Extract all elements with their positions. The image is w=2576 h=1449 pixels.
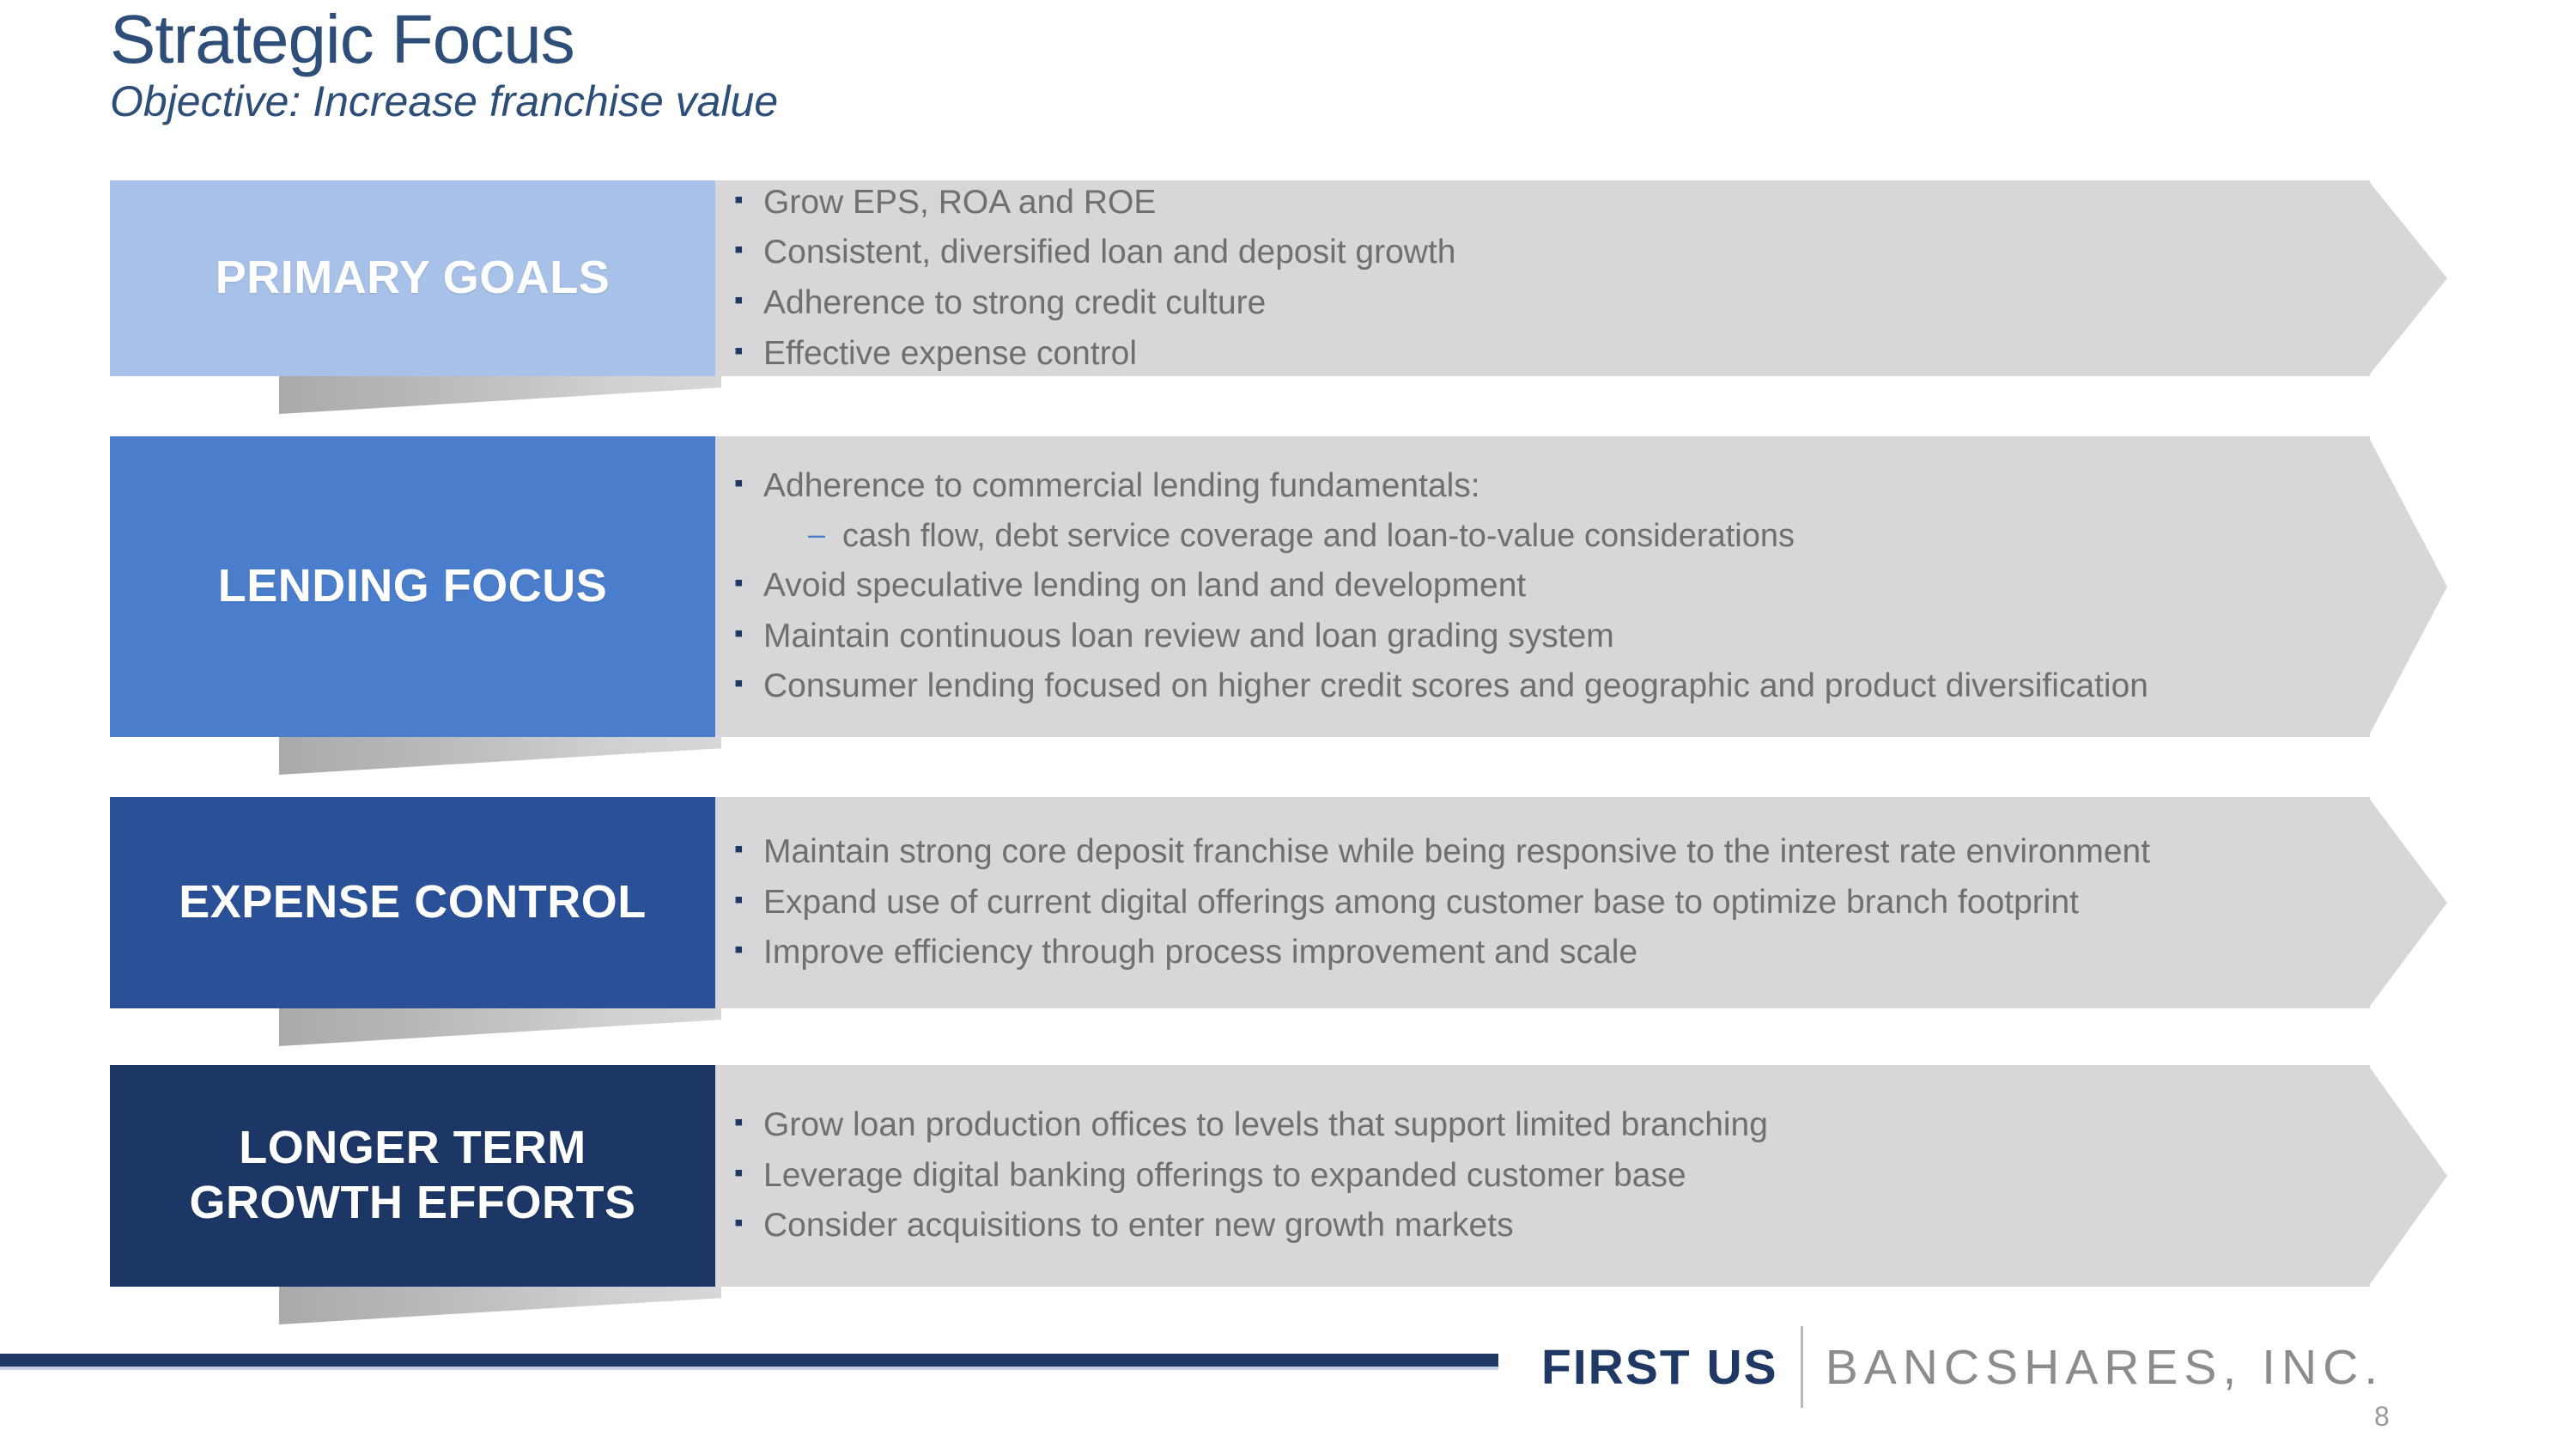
strategy-row: LONGER TERMGROWTH EFFORTS▪Grow loan prod…	[0, 1065, 2576, 1287]
section-label-line: EXPENSE CONTROL	[179, 875, 647, 930]
square-bullet-icon: ▪	[734, 1204, 763, 1242]
dash-bullet-icon: –	[808, 515, 842, 553]
bullet-item: ▪Grow loan production offices to levels …	[734, 1104, 2404, 1148]
bullet-item: ▪Maintain continuous loan review and loa…	[734, 615, 2404, 659]
bullet-item: ▪Consider acquisitions to enter new grow…	[734, 1204, 2404, 1248]
logo-secondary-text: BANCSHARES, INC.	[1826, 1339, 2384, 1396]
logo-divider	[1801, 1326, 1803, 1408]
footer-rule-highlight	[0, 1367, 1498, 1370]
strategy-row: LENDING FOCUS▪Adherence to commercial le…	[0, 436, 2576, 737]
section-label-text: LONGER TERMGROWTH EFFORTS	[190, 1121, 636, 1230]
bullet-item: ▪Leverage digital banking offerings to e…	[734, 1154, 2404, 1198]
sub-bullet-item: –cash flow, debt service coverage and lo…	[808, 515, 2404, 557]
square-bullet-icon: ▪	[734, 282, 763, 320]
label-shadow	[279, 1008, 721, 1046]
slide-header: Strategic Focus Objective: Increase fran…	[110, 5, 778, 127]
bullet-text: Consistent, diversified loan and deposit…	[763, 231, 1455, 275]
bullet-item: ▪Avoid speculative lending on land and d…	[734, 564, 2404, 608]
bullet-item: ▪Expand use of current digital offerings…	[734, 881, 2404, 925]
square-bullet-icon: ▪	[734, 465, 763, 502]
bullet-item: ▪Improve efficiency through process impr…	[734, 931, 2404, 975]
section-label-text: PRIMARY GOALS	[216, 251, 611, 306]
square-bullet-icon: ▪	[734, 931, 763, 969]
footer-rule	[0, 1354, 1498, 1367]
bullet-item: ▪Consistent, diversified loan and deposi…	[734, 231, 2404, 275]
square-bullet-icon: ▪	[734, 665, 763, 703]
square-bullet-icon: ▪	[734, 1154, 763, 1192]
square-bullet-icon: ▪	[734, 615, 763, 653]
bullet-list: ▪Adherence to commercial lending fundame…	[734, 436, 2404, 737]
bullet-list: ▪Grow loan production offices to levels …	[734, 1065, 2404, 1287]
bullet-text: Avoid speculative lending on land and de…	[763, 564, 1526, 608]
label-shadow	[279, 376, 721, 414]
section-label-block[interactable]: PRIMARY GOALS	[110, 180, 715, 376]
section-label-block[interactable]: LONGER TERMGROWTH EFFORTS	[110, 1065, 715, 1287]
bullet-list: ▪Grow EPS, ROA and ROE▪Consistent, diver…	[734, 180, 2404, 376]
section-label-line: GROWTH EFFORTS	[190, 1176, 636, 1231]
bullet-text: Maintain strong core deposit franchise w…	[763, 831, 2150, 874]
section-label-text: LENDING FOCUS	[218, 559, 608, 614]
bullet-text: Adherence to strong credit culture	[763, 282, 1266, 326]
section-label-block[interactable]: LENDING FOCUS	[110, 436, 715, 737]
bullet-text: Grow loan production offices to levels t…	[763, 1104, 1768, 1148]
company-logo: FIRST US BANCSHARES, INC.	[1541, 1326, 2384, 1408]
bullet-item: ▪Effective expense control	[734, 332, 2404, 376]
bullet-text: Improve efficiency through process impro…	[763, 931, 1637, 975]
section-label-line: LENDING FOCUS	[218, 559, 608, 614]
bullet-text: Adherence to commercial lending fundamen…	[763, 465, 1480, 508]
square-bullet-icon: ▪	[734, 1104, 763, 1142]
section-label-text: EXPENSE CONTROL	[179, 875, 647, 930]
bullet-text: Consumer lending focused on higher credi…	[763, 665, 2148, 709]
bullet-item: ▪Consumer lending focused on higher cred…	[734, 665, 2404, 709]
bullet-item: ▪Adherence to commercial lending fundame…	[734, 465, 2404, 508]
page-subtitle: Objective: Increase franchise value	[110, 77, 778, 127]
bullet-item: ▪Maintain strong core deposit franchise …	[734, 831, 2404, 874]
bullet-item: ▪Grow EPS, ROA and ROE	[734, 181, 2404, 225]
page-number: 8	[2374, 1401, 2390, 1433]
bullet-text: cash flow, debt service coverage and loa…	[842, 515, 1795, 557]
strategy-row: PRIMARY GOALS▪Grow EPS, ROA and ROE▪Cons…	[0, 180, 2576, 376]
page-title: Strategic Focus	[110, 5, 778, 74]
bullet-text: Consider acquisitions to enter new growt…	[763, 1204, 1514, 1248]
logo-primary-text: FIRST US	[1541, 1339, 1778, 1396]
bullet-text: Leverage digital banking offerings to ex…	[763, 1154, 1686, 1198]
bullet-item: ▪Adherence to strong credit culture	[734, 282, 2404, 326]
label-shadow	[279, 1287, 721, 1324]
square-bullet-icon: ▪	[734, 231, 763, 269]
square-bullet-icon: ▪	[734, 564, 763, 602]
bullet-text: Effective expense control	[763, 332, 1137, 376]
square-bullet-icon: ▪	[734, 831, 763, 868]
square-bullet-icon: ▪	[734, 181, 763, 219]
section-label-line: PRIMARY GOALS	[216, 251, 611, 306]
bullet-text: Maintain continuous loan review and loan…	[763, 615, 1614, 659]
square-bullet-icon: ▪	[734, 332, 763, 370]
bullet-text: Expand use of current digital offerings …	[763, 881, 2079, 925]
section-label-block[interactable]: EXPENSE CONTROL	[110, 797, 715, 1008]
strategy-row: EXPENSE CONTROL▪Maintain strong core dep…	[0, 797, 2576, 1008]
square-bullet-icon: ▪	[734, 881, 763, 919]
section-label-line: LONGER TERM	[190, 1121, 636, 1176]
bullet-list: ▪Maintain strong core deposit franchise …	[734, 797, 2404, 1008]
bullet-text: Grow EPS, ROA and ROE	[763, 181, 1156, 225]
label-shadow	[279, 737, 721, 775]
